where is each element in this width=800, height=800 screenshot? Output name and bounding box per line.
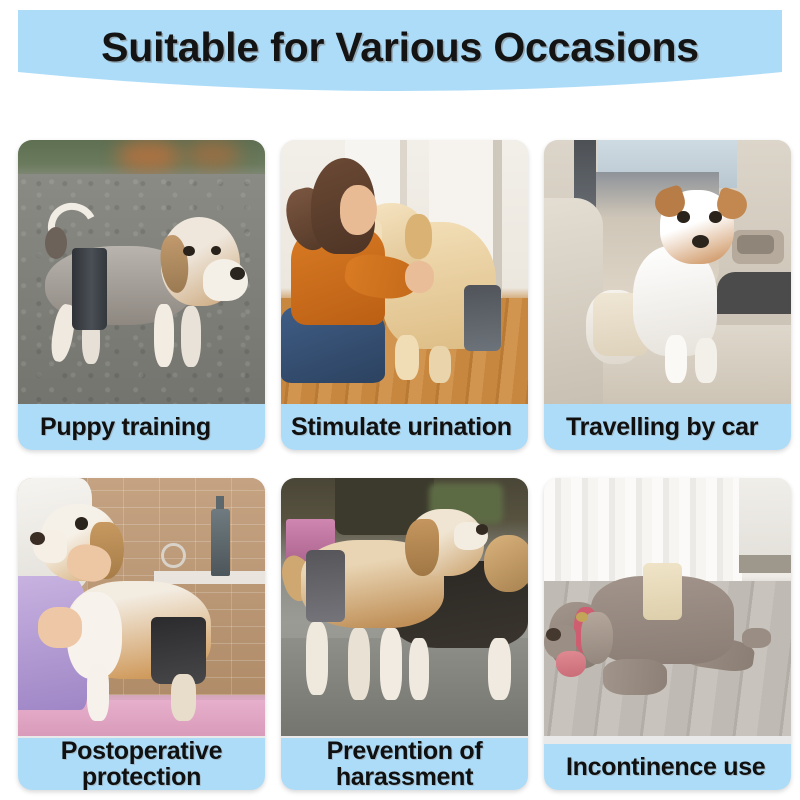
header-banner: Suitable for Various Occasions — [18, 10, 782, 102]
occasion-photo-incontinence-use — [544, 478, 791, 736]
occasion-caption-travelling-by-car: Travelling by car — [544, 404, 791, 450]
occasion-photo-puppy-training — [18, 140, 265, 404]
caption-line-2: protection — [82, 764, 201, 790]
occasion-photo-travelling-by-car — [544, 140, 791, 404]
occasion-caption-incontinence-use: Incontinence use — [544, 744, 791, 790]
occasion-card-postoperative-protection[interactable]: Postoperative protection — [18, 478, 265, 790]
occasion-card-stimulate-urination[interactable]: Stimulate urination — [281, 140, 528, 450]
caption-line-1: Postoperative — [61, 738, 222, 764]
occasion-caption-puppy-training: Puppy training — [18, 404, 265, 450]
occasion-caption-postoperative-protection: Postoperative protection — [18, 738, 265, 790]
caption-line-2: harassment — [336, 764, 473, 790]
occasions-grid: Puppy training Stimulate urination — [18, 140, 782, 790]
occasion-card-prevention-of-harassment[interactable]: Prevention of harassment — [281, 478, 528, 790]
occasion-photo-stimulate-urination — [281, 140, 528, 404]
page-title: Suitable for Various Occasions — [18, 10, 782, 84]
occasion-card-incontinence-use[interactable]: Incontinence use — [544, 478, 791, 790]
occasion-card-travelling-by-car[interactable]: Travelling by car — [544, 140, 791, 450]
occasion-caption-stimulate-urination: Stimulate urination — [281, 404, 528, 450]
occasion-photo-postoperative-protection — [18, 478, 265, 736]
caption-line-1: Prevention of — [327, 738, 483, 764]
occasion-card-puppy-training[interactable]: Puppy training — [18, 140, 265, 450]
occasion-caption-prevention-of-harassment: Prevention of harassment — [281, 738, 528, 790]
occasion-photo-prevention-of-harassment — [281, 478, 528, 736]
